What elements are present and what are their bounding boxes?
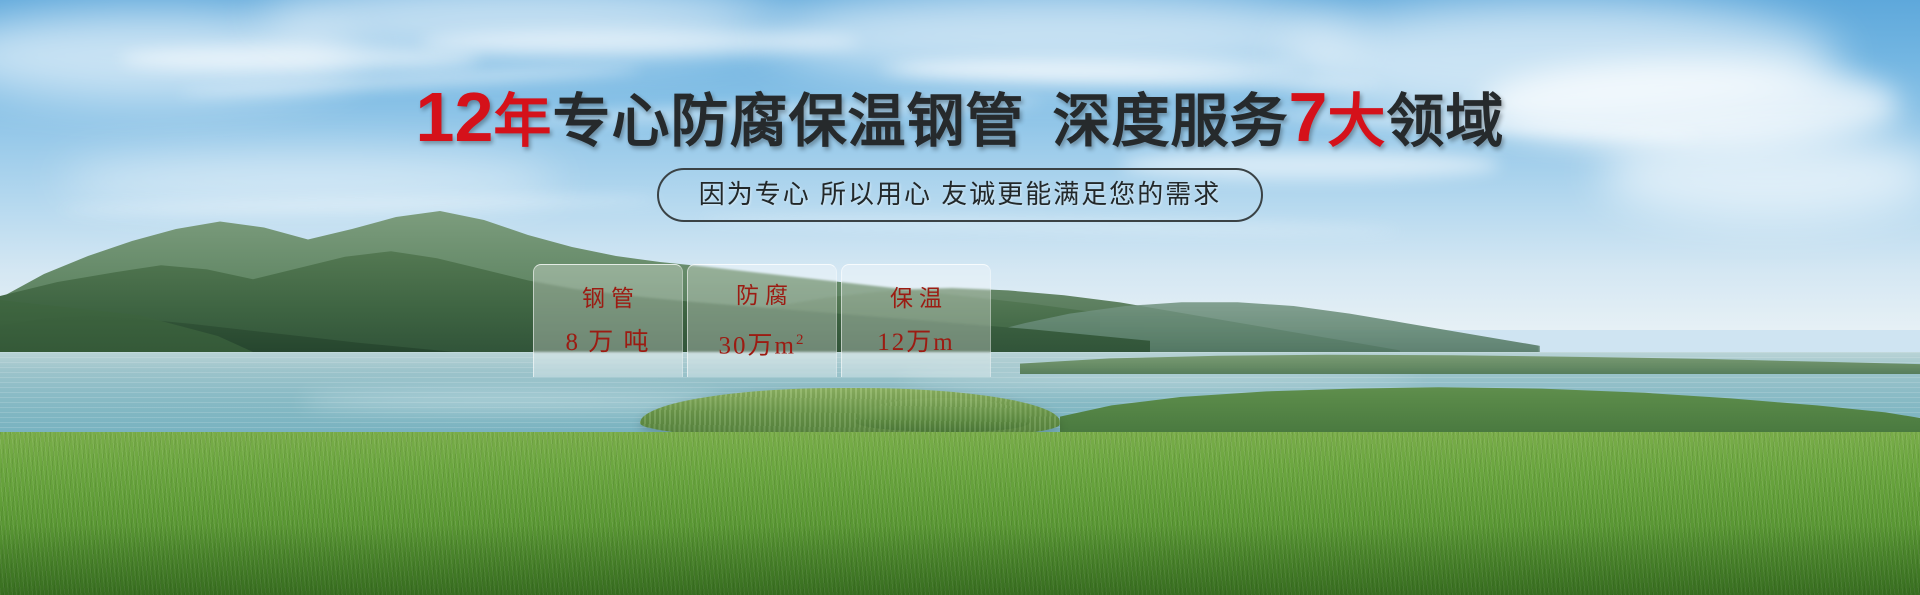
stat-value-text: 8 万 吨 (565, 329, 650, 356)
headline-years-number: 12 (416, 78, 494, 156)
stat-value-superscript: 2 (796, 332, 806, 348)
headline-years-unit: 年 (493, 89, 552, 154)
headline-main-text: 专心防腐保温钢管 (552, 89, 1024, 154)
stat-card-value: 30万m2 (719, 326, 806, 360)
subtitle-container: 因为专心 所以用心 友诚更能满足您的需求 (0, 168, 1920, 222)
stat-card-value: 8 万 吨 (565, 329, 650, 357)
grass-shadow (0, 525, 1920, 595)
headline-service-text: 深度服务 (1052, 89, 1288, 154)
hero-banner: 12年专心防腐保温钢管深度服务7大领域 因为专心 所以用心 友诚更能满足您的需求… (0, 0, 1920, 595)
water-glint (300, 392, 720, 410)
headline-fields-number: 7 (1288, 78, 1327, 156)
headline-fields-unit: 大 (1327, 89, 1386, 154)
foreground-grass (0, 432, 1920, 595)
stat-value-text: 12万m (877, 329, 954, 356)
banner-headline: 12年专心防腐保温钢管深度服务7大领域 (0, 86, 1920, 153)
stat-cards: 钢管 8 万 吨 防腐 30万m2 保温 12万m (533, 264, 991, 377)
headline-fields-text: 领域 (1386, 89, 1504, 154)
subtitle-pill: 因为专心 所以用心 友诚更能满足您的需求 (657, 168, 1263, 222)
stat-card-value: 12万m (877, 329, 954, 357)
stat-value-text: 30万m (719, 332, 796, 359)
stat-card-label: 钢管 (576, 285, 640, 311)
stat-card-anticorrosion[interactable]: 防腐 30万m2 (687, 264, 837, 377)
stat-card-steel-pipe[interactable]: 钢管 8 万 吨 (533, 264, 683, 377)
stat-card-label: 保温 (884, 285, 948, 311)
stat-card-label: 防腐 (730, 282, 794, 308)
stat-card-insulation[interactable]: 保温 12万m (841, 264, 991, 377)
